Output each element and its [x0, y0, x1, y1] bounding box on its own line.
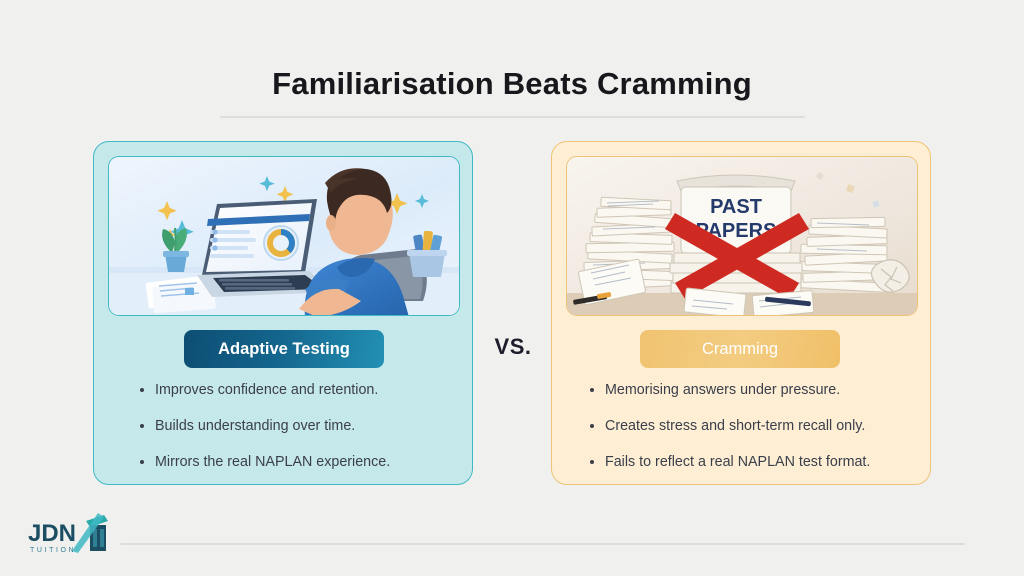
- past-papers-pile-illustration: PAST PAPERS: [566, 156, 918, 316]
- badge-cramming: Cramming: [640, 330, 840, 368]
- page-title: Familiarisation Beats Cramming: [0, 66, 1024, 102]
- footer-divider: [120, 543, 965, 545]
- comparison-card-cramming: PAST PAPERS: [551, 141, 931, 485]
- student-at-laptop-illustration: [108, 156, 460, 316]
- jdn-tuition-logo: JDN TUITION: [24, 511, 120, 557]
- svg-text:PAST: PAST: [710, 196, 762, 218]
- badge-adaptive-testing: Adaptive Testing: [184, 330, 384, 368]
- benefit-list-adaptive: Improves confidence and retention. Build…: [138, 382, 448, 490]
- versus-label: VS.: [474, 334, 552, 360]
- list-item: Fails to reflect a real NAPLAN test form…: [588, 454, 918, 471]
- logo-tagline: TUITION: [30, 547, 76, 554]
- list-item: Improves confidence and retention.: [138, 382, 448, 399]
- list-item: Builds understanding over time.: [138, 418, 448, 435]
- list-item: Memorising answers under pressure.: [588, 382, 918, 399]
- drawback-list-cramming: Memorising answers under pressure. Creat…: [588, 382, 918, 490]
- logo-wordmark: JDN: [28, 520, 76, 547]
- title-divider: [220, 116, 805, 118]
- comparison-card-adaptive-testing: Adaptive Testing Improves confidence and…: [93, 141, 473, 485]
- list-item: Mirrors the real NAPLAN experience.: [138, 454, 448, 471]
- list-item: Creates stress and short-term recall onl…: [588, 418, 918, 435]
